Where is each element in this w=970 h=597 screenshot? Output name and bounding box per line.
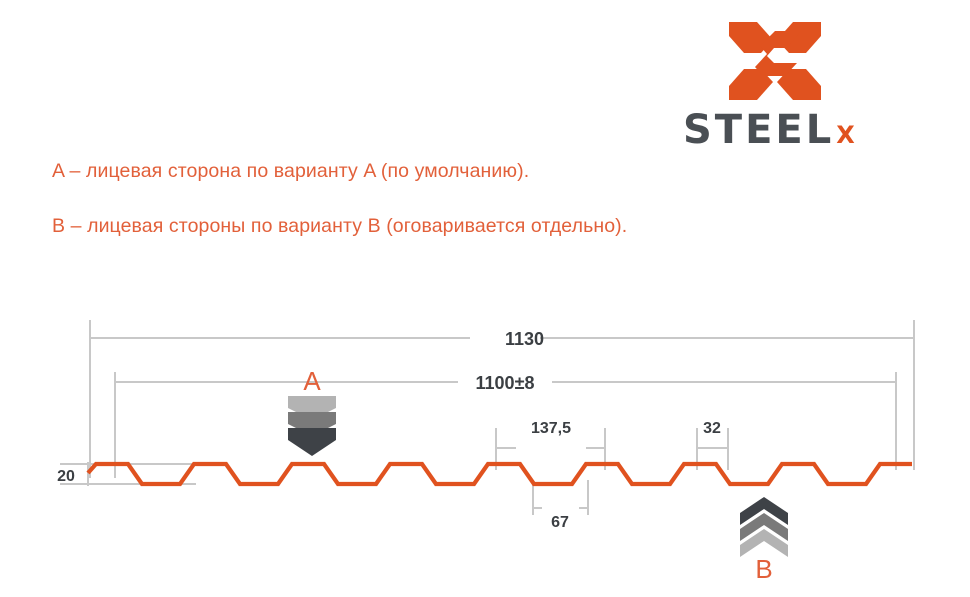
marker-a: A	[288, 366, 336, 456]
marker-b: B	[740, 497, 788, 584]
profile-drawing: 1130 1100±8 137,5 32 67 20 A B	[0, 0, 970, 597]
dimension-rib-pitch: 137,5	[531, 420, 571, 437]
corrugated-profile-path	[88, 464, 912, 484]
dimension-lines	[60, 320, 914, 515]
dimension-profile-height: 20	[57, 468, 75, 485]
marker-a-chevron-3	[288, 428, 336, 456]
dimension-effective-width: 1100±8	[476, 373, 535, 393]
dimension-rib-top-width: 32	[703, 420, 721, 437]
marker-b-label: B	[755, 554, 772, 584]
dimension-overall-width: 1130	[505, 329, 544, 349]
dimension-valley-width: 67	[551, 514, 569, 531]
marker-a-label: A	[303, 366, 321, 396]
